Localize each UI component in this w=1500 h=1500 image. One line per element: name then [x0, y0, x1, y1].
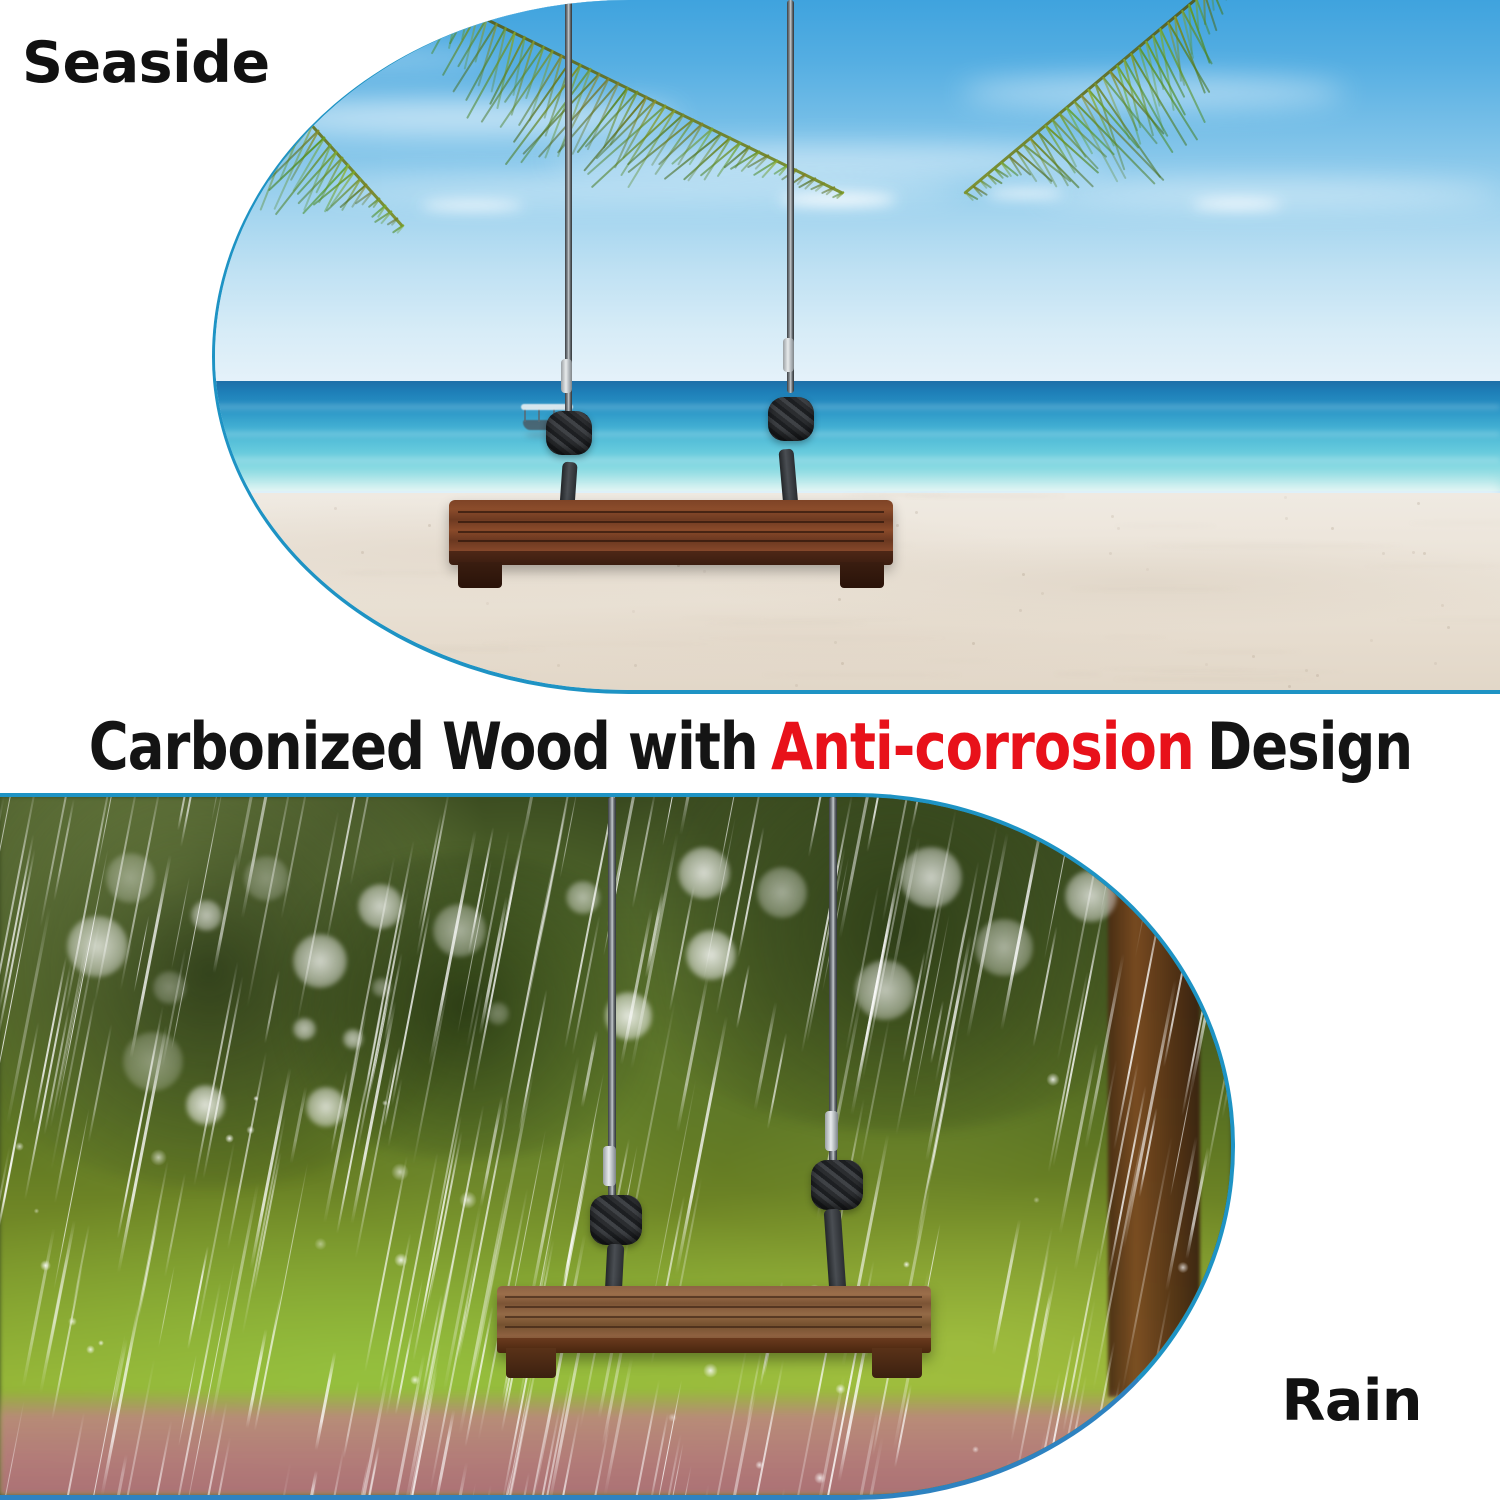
- sand-speck: [1316, 674, 1319, 677]
- seat-slat-line: [458, 511, 884, 513]
- bokeh-circle: [358, 884, 403, 929]
- swing-cable: [787, 0, 794, 393]
- sand-speck: [1434, 662, 1437, 665]
- sand-ripple: [923, 660, 992, 662]
- bokeh-circle: [293, 1018, 315, 1040]
- bokeh-circle: [433, 904, 486, 957]
- sand-speck: [1417, 502, 1420, 505]
- headline-part-1: Carbonized Wood with: [88, 710, 757, 785]
- seat-slat-line: [505, 1306, 922, 1308]
- headline-text: Carbonized Wood withAnti-corrosionDesign: [88, 715, 1411, 780]
- cable-sleeve: [783, 338, 794, 372]
- sand-speck: [267, 662, 270, 665]
- bokeh-circle: [153, 971, 186, 1004]
- sand-speck: [1447, 626, 1450, 629]
- sand-ripple: [1102, 636, 1168, 638]
- headline-part-2: Design: [1207, 710, 1412, 785]
- seat-support-block: [506, 1348, 556, 1378]
- seaside-label: Seaside: [22, 30, 270, 96]
- swing-seat: [497, 1286, 931, 1353]
- sand-speck: [1441, 604, 1444, 607]
- sand-speck: [1288, 685, 1291, 688]
- bokeh-circle: [372, 978, 390, 996]
- sand-speck: [1146, 568, 1149, 571]
- bokeh-circle: [975, 919, 1033, 977]
- palm-frond-icon: [1217, 0, 1500, 310]
- seaside-scene: [215, 0, 1500, 690]
- seat-slat-line: [505, 1296, 922, 1298]
- bokeh-circle: [67, 916, 128, 977]
- seat-front-edge: [449, 551, 893, 565]
- sand-ripple: [1364, 565, 1500, 567]
- seaside-panel: [212, 0, 1500, 694]
- sand-speck: [1205, 663, 1208, 666]
- sand-ripple: [1114, 525, 1217, 527]
- seat-support-block: [872, 1348, 922, 1378]
- sand-speck: [1117, 527, 1120, 530]
- seat-slat-line: [505, 1316, 922, 1318]
- rope-knot: [768, 397, 814, 441]
- headline-banner: Carbonized Wood withAnti-corrosionDesign: [0, 705, 1500, 789]
- sand-ripple: [1141, 671, 1347, 673]
- cable-sleeve: [603, 1146, 616, 1186]
- sand-speck: [334, 507, 337, 510]
- sand-speck: [1305, 669, 1308, 672]
- sand-speck: [1331, 527, 1334, 530]
- bokeh-circle: [186, 1085, 225, 1124]
- cable-sleeve: [825, 1111, 838, 1151]
- sand-speck: [1022, 573, 1025, 576]
- infographic-canvas: Carbonized Wood withAnti-corrosionDesign: [0, 0, 1500, 1500]
- seat-slat-line: [505, 1326, 922, 1328]
- seat-front-edge: [497, 1338, 931, 1353]
- frond-leaflet: [217, 109, 301, 218]
- sand-speck: [972, 642, 975, 645]
- sand-speck: [1423, 552, 1426, 555]
- rope-knot: [811, 1160, 863, 1210]
- sand-speck: [1284, 496, 1287, 499]
- cloud: [986, 189, 1063, 198]
- swing-cable: [565, 0, 572, 414]
- swing-seaside: [440, 0, 903, 690]
- rain-panel: [0, 793, 1235, 1500]
- sand-speck: [361, 551, 364, 554]
- rope-knot: [546, 411, 592, 455]
- cable-sleeve: [561, 359, 572, 393]
- frond-leaflet: [420, 0, 423, 4]
- frond-leaflet: [428, 0, 432, 9]
- sand-speck: [1041, 592, 1044, 595]
- headline-accent: Anti-corrosion: [771, 710, 1194, 785]
- sand-speck: [1382, 552, 1385, 555]
- rain-label: Rain: [1282, 1368, 1422, 1434]
- sand-ripple: [1144, 545, 1403, 547]
- sand-speck: [915, 511, 918, 514]
- sand-ripple: [1071, 588, 1241, 590]
- sand-ripple: [1173, 651, 1301, 653]
- sand-ripple: [1396, 619, 1500, 621]
- sand-speck: [322, 604, 325, 607]
- sand-ripple: [1408, 522, 1500, 524]
- bokeh-circle: [1065, 870, 1117, 922]
- sand-speck: [1370, 639, 1373, 642]
- sand-speck: [1109, 552, 1112, 555]
- frond-leaflet: [396, 224, 405, 234]
- sand-speck: [1019, 609, 1022, 612]
- rope-knot: [590, 1195, 642, 1245]
- sand-speck: [1111, 515, 1114, 518]
- wooden-post: [1108, 881, 1200, 1398]
- frond-leaflet: [1217, 0, 1228, 1]
- rain-scene: [0, 797, 1231, 1495]
- seat-slat-line: [458, 521, 884, 523]
- seat-slat-line: [458, 531, 884, 533]
- sand-ripple: [1113, 678, 1321, 680]
- bokeh-circle: [106, 853, 155, 902]
- swing-seat: [449, 500, 893, 565]
- bokeh-circle: [123, 1032, 183, 1092]
- sand-ripple: [1097, 668, 1260, 670]
- sand-speck: [1285, 517, 1288, 520]
- sand-speck: [1252, 655, 1255, 658]
- seat-slat-line: [458, 540, 884, 542]
- seat-support-block: [458, 562, 502, 588]
- bokeh-circle: [293, 934, 347, 988]
- sand-ripple: [1054, 673, 1102, 675]
- swing-cable: [608, 797, 616, 1202]
- seat-support-block: [840, 562, 884, 588]
- swing-rain: [492, 797, 935, 1495]
- sand-speck: [428, 524, 431, 527]
- sand-speck: [1412, 551, 1415, 554]
